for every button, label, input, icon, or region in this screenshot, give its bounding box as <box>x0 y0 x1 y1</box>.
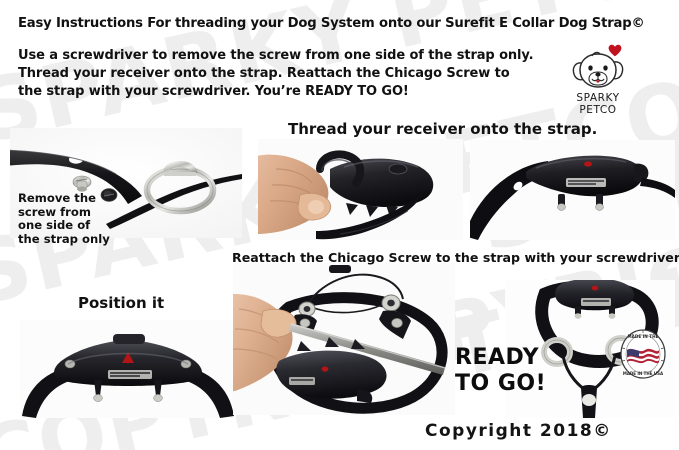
instruction-sheet: SPARKY PETCO SPARKY PETCO SPARKY PETCO C… <box>0 0 679 450</box>
caption-line: screw from <box>18 206 110 220</box>
caption-line: Remove the <box>18 192 110 206</box>
page-title: Easy Instructions For threading your Dog… <box>18 16 644 31</box>
intro-line: the strap with your screwdriver. You’re … <box>18 83 548 101</box>
position-it-caption: Position it <box>78 294 164 312</box>
sparky-petco-logo: SPARKY PETCO <box>562 50 634 112</box>
badge-text-bottom: MADE IN THE USA <box>623 371 664 376</box>
receiver-front-view-photo <box>20 320 236 418</box>
hand-with-screwdriver-photo <box>233 263 455 415</box>
intro-paragraph: Use a screwdriver to remove the screw fr… <box>18 47 548 101</box>
reattach-screw-caption: Reattach the Chicago Screw to the strap … <box>232 250 679 265</box>
heart-icon <box>608 44 622 57</box>
thread-receiver-caption: Thread your receiver onto the strap. <box>288 120 597 138</box>
made-in-usa-badge: MADE IN THE MADE IN THE USA <box>619 328 667 380</box>
logo-name-line-2: PETCO <box>562 105 634 116</box>
caption-line: one side of <box>18 219 110 233</box>
hand-holding-receiver-photo <box>258 139 463 240</box>
ready-to-go-caption: READY TO GO! <box>455 345 546 397</box>
caption-line: the strap only <box>18 233 110 247</box>
logo-name-line-1: SPARKY <box>562 93 634 104</box>
caption-line: READY <box>455 345 546 371</box>
caption-line: TO GO! <box>455 371 546 397</box>
receiver-threaded-on-strap-photo <box>470 140 675 240</box>
copyright-notice: Copyright 2018© <box>425 421 612 441</box>
remove-screw-caption: Remove the screw from one side of the st… <box>18 192 110 246</box>
intro-line: Use a screwdriver to remove the screw fr… <box>18 47 548 65</box>
intro-line: Thread your receiver onto the strap. Rea… <box>18 65 548 83</box>
badge-text-top: MADE IN THE <box>628 334 659 339</box>
